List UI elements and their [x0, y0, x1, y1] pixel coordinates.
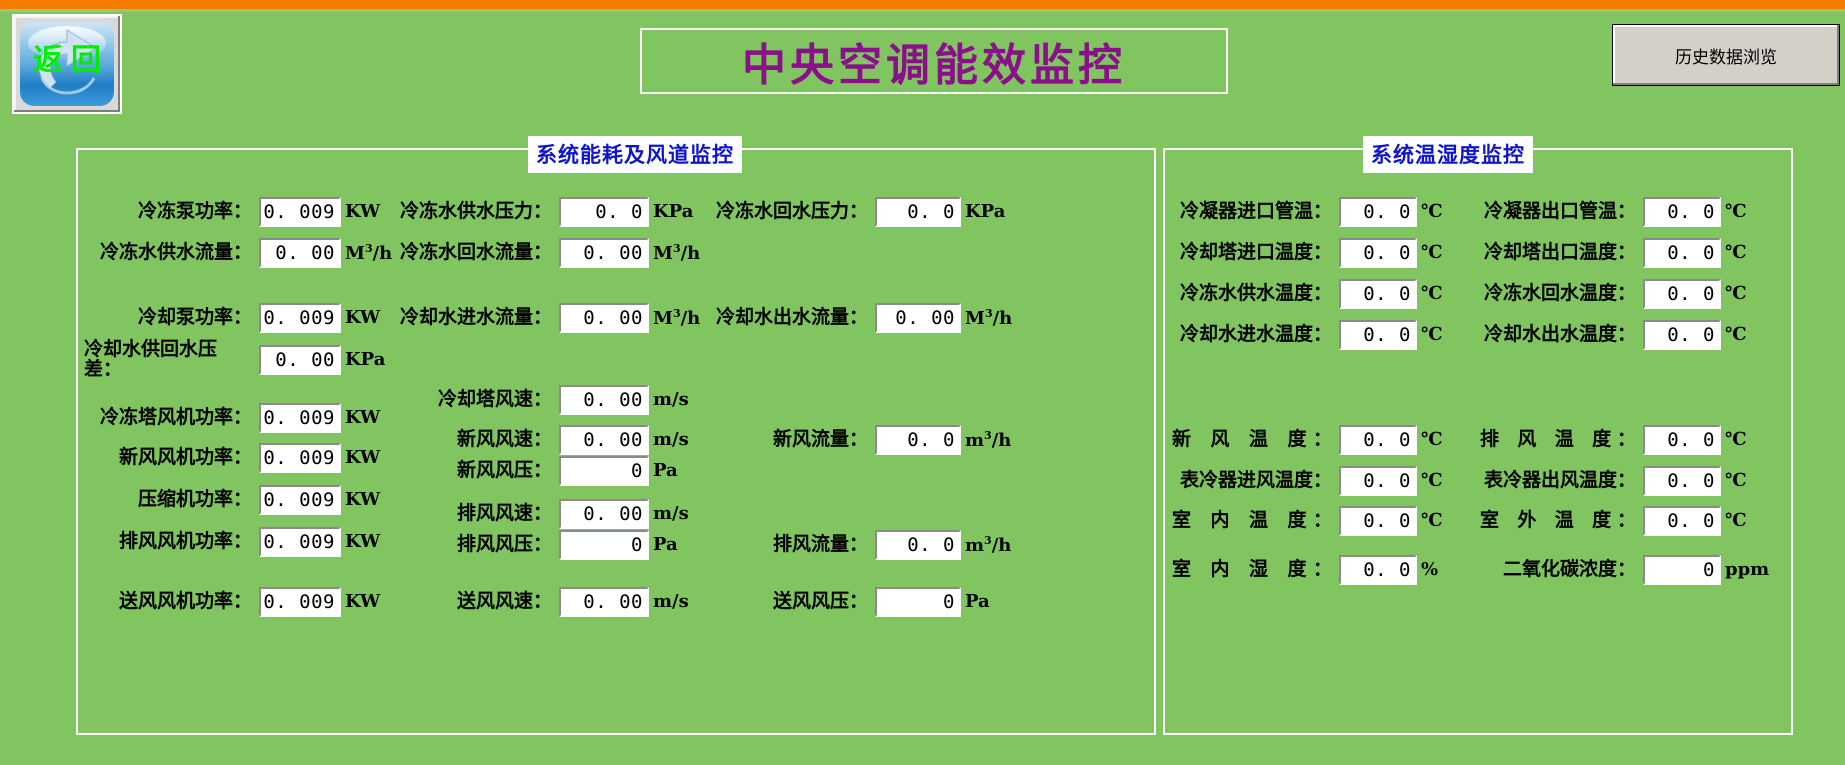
energy-field-unit: m/s — [653, 431, 689, 449]
energy-field-row: 送风风速：0. 00m/s — [380, 587, 712, 617]
temp-field-label: 冷凝器进口管温： — [1172, 201, 1332, 222]
energy-field-row: 排风流量：0. 0m3/h — [690, 530, 1024, 560]
energy-field-row: 送风风机功率：0. 009KW — [84, 587, 404, 617]
temp-field-label: 表冷器出风温度： — [1480, 470, 1636, 491]
energy-duct-panel-title-text: 系统能耗及风道监控 — [536, 143, 734, 167]
temp-field-unit: ℃ — [1725, 244, 1747, 262]
energy-field-unit: m/s — [653, 593, 689, 611]
energy-field-unit: M3/h — [965, 308, 1012, 328]
temp-field-label: 室 内 湿 度： — [1172, 559, 1332, 580]
energy-field-value[interactable]: 0. 00 — [259, 345, 341, 375]
energy-field-label: 冷却水出水流量： — [690, 307, 868, 328]
energy-field-value[interactable]: 0. 00 — [559, 238, 649, 268]
temp-field-label: 表冷器进风温度： — [1172, 470, 1332, 491]
energy-field-label: 新风风机功率： — [84, 447, 252, 468]
temp-field-unit: ℃ — [1421, 244, 1443, 262]
energy-field-row: 排风风机功率：0. 009KW — [84, 527, 404, 557]
temp-field-value[interactable]: 0. 0 — [1643, 466, 1721, 496]
temp-field-row: 二氧化碳浓度：0ppm — [1480, 555, 1769, 585]
temp-field-label: 新 风 温 度： — [1172, 429, 1332, 450]
energy-field-label: 排风风速： — [380, 503, 552, 524]
energy-field-unit: M3/h — [653, 243, 700, 263]
energy-field-unit: Pa — [653, 462, 678, 480]
temp-field-row: 冷冻水回水温度：0. 0℃ — [1480, 279, 1747, 309]
temp-field-label: 冷却塔进口温度： — [1172, 242, 1332, 263]
energy-field-unit: Pa — [965, 593, 990, 611]
temp-field-value[interactable]: 0. 0 — [1643, 506, 1721, 536]
energy-field-row: 冷冻塔风机功率：0. 009KW — [84, 403, 404, 433]
energy-field-unit: KPa — [653, 203, 693, 221]
energy-field-value[interactable]: 0. 0 — [875, 197, 961, 227]
temp-field-value[interactable]: 0. 0 — [1643, 238, 1721, 268]
energy-field-value[interactable]: 0 — [875, 587, 961, 617]
temp-field-value[interactable]: 0. 0 — [1339, 238, 1417, 268]
energy-field-value[interactable]: 0. 009 — [259, 485, 341, 515]
temp-field-value[interactable]: 0. 0 — [1339, 279, 1417, 309]
accent-top-bar — [0, 0, 1845, 9]
energy-field-row: 冷却水进水流量：0. 00M3/h — [380, 303, 712, 333]
energy-field-label: 冷却泵功率： — [84, 307, 252, 328]
temp-field-label: 室 外 温 度： — [1480, 510, 1636, 531]
energy-field-value[interactable]: 0. 009 — [259, 303, 341, 333]
energy-field-value[interactable]: 0. 009 — [259, 443, 341, 473]
energy-field-value[interactable]: 0 — [559, 456, 649, 486]
back-button-face: 返回 — [20, 22, 114, 106]
temp-field-row: 冷凝器出口管温：0. 0℃ — [1480, 197, 1747, 227]
energy-field-value[interactable]: 0. 009 — [259, 197, 341, 227]
energy-field-label: 新风风压： — [380, 460, 552, 481]
temp-field-unit: ℃ — [1725, 203, 1747, 221]
temp-field-unit: ℃ — [1421, 512, 1443, 530]
temp-field-row: 室 内 湿 度：0. 0% — [1172, 555, 1438, 585]
energy-field-label: 压缩机功率： — [84, 489, 252, 510]
temp-field-value[interactable]: 0. 0 — [1339, 425, 1417, 455]
energy-field-row: 冷冻水回水压力：0. 0KPa — [690, 197, 1024, 227]
energy-duct-panel-title: 系统能耗及风道监控 — [528, 136, 742, 173]
temp-field-label: 冷凝器出口管温： — [1480, 201, 1636, 222]
energy-field-row: 新风风速：0. 00m/s — [380, 425, 712, 455]
temp-field-row: 室 外 温 度：0. 0℃ — [1480, 506, 1747, 536]
temp-field-value[interactable]: 0. 0 — [1643, 320, 1721, 350]
temp-field-label: 排 风 温 度： — [1480, 429, 1636, 450]
energy-field-unit: KW — [345, 593, 380, 611]
temp-field-unit: ℃ — [1725, 472, 1747, 490]
temp-field-row: 冷却水进水温度：0. 0℃ — [1172, 320, 1443, 350]
energy-field-label: 冷却塔风速： — [380, 389, 552, 410]
energy-field-value[interactable]: 0. 009 — [259, 587, 341, 617]
energy-field-value[interactable]: 0. 0 — [875, 530, 961, 560]
energy-field-unit: Pa — [653, 536, 678, 554]
temp-field-row: 冷却水出水温度：0. 0℃ — [1480, 320, 1747, 350]
temp-humidity-panel-title: 系统温湿度监控 — [1363, 136, 1533, 173]
temp-field-value[interactable]: 0. 0 — [1339, 197, 1417, 227]
energy-field-label: 冷冻塔风机功率： — [84, 407, 252, 428]
temp-field-value[interactable]: 0. 0 — [1643, 197, 1721, 227]
temp-field-unit: ℃ — [1421, 203, 1443, 221]
energy-field-row: 新风风机功率：0. 009KW — [84, 443, 404, 473]
energy-field-row: 新风风压：0Pa — [380, 456, 712, 486]
energy-field-value[interactable]: 0. 00 — [875, 303, 961, 333]
temp-field-label: 二氧化碳浓度： — [1480, 559, 1636, 580]
temp-field-value[interactable]: 0. 0 — [1339, 466, 1417, 496]
energy-field-row: 冷却水出水流量：0. 00M3/h — [690, 303, 1024, 333]
temp-field-row: 冷却塔出口温度：0. 0℃ — [1480, 238, 1747, 268]
energy-field-value[interactable]: 0. 00 — [559, 303, 649, 333]
accent-top-bar-shadow — [0, 9, 1845, 12]
energy-field-unit: KW — [345, 533, 380, 551]
energy-field-label: 排风流量： — [690, 534, 868, 555]
energy-field-unit: KW — [345, 203, 380, 221]
temp-field-label: 冷冻水回水温度： — [1480, 283, 1636, 304]
energy-field-value[interactable]: 0. 00 — [559, 499, 649, 529]
energy-field-unit: m3/h — [965, 430, 1011, 450]
back-button[interactable]: 返回 — [12, 14, 122, 114]
energy-field-unit: KPa — [345, 351, 385, 369]
energy-field-row: 冷却泵功率：0. 009KW — [84, 303, 404, 333]
temp-field-row: 新 风 温 度：0. 0℃ — [1172, 425, 1443, 455]
temp-field-unit: ℃ — [1421, 472, 1443, 490]
energy-field-unit: m/s — [653, 391, 689, 409]
temp-field-label: 冷却水出水温度： — [1480, 324, 1636, 345]
temp-field-row: 表冷器进风温度：0. 0℃ — [1172, 466, 1443, 496]
energy-field-unit: KW — [345, 409, 380, 427]
energy-field-value[interactable]: 0. 009 — [259, 527, 341, 557]
energy-field-label: 新风风速： — [380, 429, 552, 450]
history-data-browse-button[interactable]: 历史数据浏览 — [1612, 24, 1840, 86]
back-arrow-icon — [20, 22, 114, 106]
temp-field-row: 冷冻水供水温度：0. 0℃ — [1172, 279, 1443, 309]
energy-field-value[interactable]: 0. 0 — [875, 425, 961, 455]
temp-field-unit: ℃ — [1421, 285, 1443, 303]
temp-humidity-panel-title-text: 系统温湿度监控 — [1371, 143, 1525, 167]
temp-field-value[interactable]: 0. 0 — [1339, 555, 1417, 585]
page-title: 中央空调能效监控 — [640, 28, 1228, 94]
temp-field-row: 冷却塔进口温度：0. 0℃ — [1172, 238, 1443, 268]
energy-field-value[interactable]: 0. 00 — [559, 385, 649, 415]
energy-field-label: 送风风速： — [380, 591, 552, 612]
temp-field-unit: ℃ — [1725, 326, 1747, 344]
temp-field-row: 排 风 温 度：0. 0℃ — [1480, 425, 1747, 455]
energy-field-label: 送风风压： — [690, 591, 868, 612]
temp-field-unit: ℃ — [1725, 512, 1747, 530]
energy-field-unit: m3/h — [965, 535, 1011, 555]
temp-field-unit: ℃ — [1421, 431, 1443, 449]
energy-field-row: 冷却塔风速：0. 00m/s — [380, 385, 712, 415]
energy-field-value[interactable]: 0. 0 — [559, 197, 649, 227]
energy-field-value[interactable]: 0 — [559, 530, 649, 560]
energy-field-label: 冷冻泵功率： — [84, 201, 252, 222]
energy-field-value[interactable]: 0. 00 — [559, 425, 649, 455]
temp-field-unit: ℃ — [1421, 326, 1443, 344]
energy-field-unit: KW — [345, 309, 380, 327]
energy-field-value[interactable]: 0. 009 — [259, 403, 341, 433]
temp-field-row: 室 内 温 度：0. 0℃ — [1172, 506, 1443, 536]
energy-field-label: 冷却水供回水压差： — [84, 340, 252, 380]
energy-field-label: 排风风机功率： — [84, 531, 252, 552]
temp-field-row: 冷凝器进口管温：0. 0℃ — [1172, 197, 1443, 227]
energy-field-label: 排风风压： — [380, 534, 552, 555]
history-data-browse-label: 历史数据浏览 — [1675, 43, 1777, 68]
temp-field-value[interactable]: 0. 0 — [1339, 506, 1417, 536]
page-title-text: 中央空调能效监控 — [742, 29, 1126, 93]
temp-field-unit: ppm — [1725, 561, 1769, 579]
energy-field-value[interactable]: 0. 00 — [259, 238, 341, 268]
temp-field-label: 冷却塔出口温度： — [1480, 242, 1636, 263]
temp-field-label: 室 内 温 度： — [1172, 510, 1332, 531]
temp-field-value[interactable]: 0 — [1643, 555, 1721, 585]
energy-field-value[interactable]: 0. 00 — [559, 587, 649, 617]
energy-field-row: 冷却水供回水压差：0. 00KPa — [84, 340, 404, 380]
energy-field-label: 冷冻水供水压力： — [380, 201, 552, 222]
energy-field-label: 送风风机功率： — [84, 591, 252, 612]
energy-field-label: 冷冻水回水压力： — [690, 201, 868, 222]
temp-field-unit: ℃ — [1725, 431, 1747, 449]
energy-field-label: 冷却水进水流量： — [380, 307, 552, 328]
energy-field-row: 压缩机功率：0. 009KW — [84, 485, 404, 515]
energy-field-row: 冷冻泵功率：0. 009KW — [84, 197, 404, 227]
energy-field-row: 排风风速：0. 00m/s — [380, 499, 712, 529]
energy-field-row: 送风风压：0Pa — [690, 587, 1024, 617]
temp-field-unit: ℃ — [1725, 285, 1747, 303]
temp-field-value[interactable]: 0. 0 — [1339, 320, 1417, 350]
energy-field-unit: KPa — [965, 203, 1005, 221]
temp-field-value[interactable]: 0. 0 — [1643, 279, 1721, 309]
energy-field-unit: KW — [345, 491, 380, 509]
temp-field-label: 冷冻水供水温度： — [1172, 283, 1332, 304]
energy-field-label: 新风流量： — [690, 429, 868, 450]
temp-field-row: 表冷器出风温度：0. 0℃ — [1480, 466, 1747, 496]
temp-field-value[interactable]: 0. 0 — [1643, 425, 1721, 455]
energy-field-unit: KW — [345, 449, 380, 467]
energy-field-row: 冷冻水回水流量：0. 00M3/h — [380, 238, 712, 268]
energy-field-label: 冷冻水供水流量： — [84, 242, 252, 263]
energy-field-row: 冷冻水供水压力：0. 0KPa — [380, 197, 712, 227]
energy-field-row: 冷冻水供水流量：0. 00M3/h — [84, 238, 404, 268]
energy-field-row: 新风流量：0. 0m3/h — [690, 425, 1024, 455]
energy-field-unit: m/s — [653, 505, 689, 523]
energy-field-row: 排风风压：0Pa — [380, 530, 712, 560]
temp-field-label: 冷却水进水温度： — [1172, 324, 1332, 345]
temp-field-unit: % — [1421, 561, 1438, 579]
energy-field-label: 冷冻水回水流量： — [380, 242, 552, 263]
